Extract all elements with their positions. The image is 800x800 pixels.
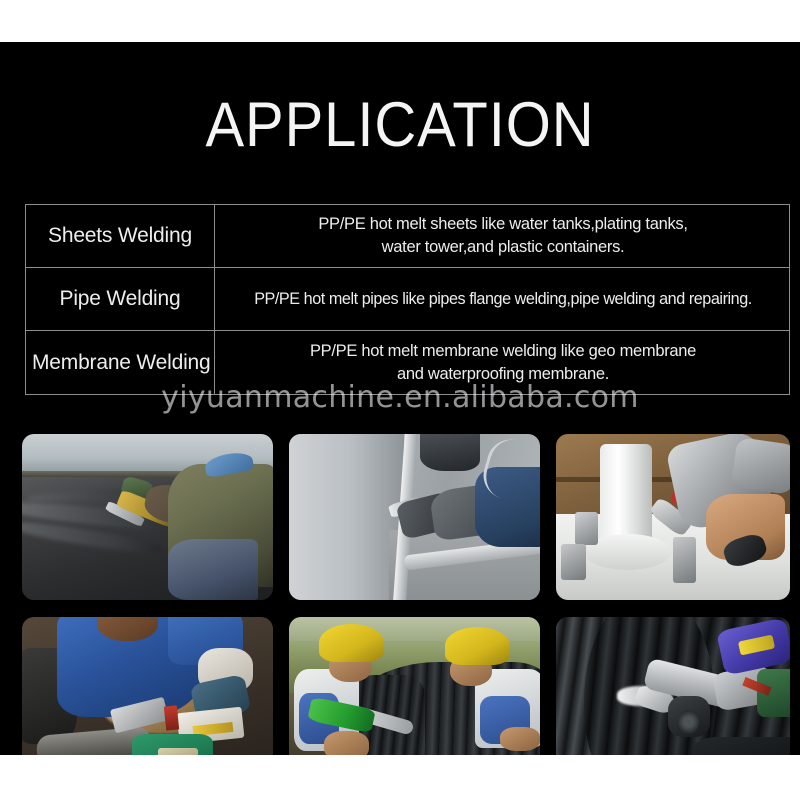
extrusion-welder-body — [731, 437, 790, 495]
photo-scene — [289, 617, 540, 755]
gallery-photo-sheet-welding — [289, 434, 540, 600]
description-line: and waterproofing membrane. — [225, 363, 781, 386]
table-cell-description: PP/PE hot melt membrane welding like geo… — [215, 331, 790, 395]
description-line: water tower,and plastic containers. — [225, 236, 781, 259]
table-cell-description: PP/PE hot melt pipes like pipes flange w… — [215, 268, 790, 331]
clamp — [575, 512, 598, 545]
description-line: PP/PE hot melt pipes like pipes flange w… — [225, 288, 781, 311]
gallery-photo-pipe-repair-welding — [22, 617, 273, 755]
photo-scene — [289, 434, 540, 600]
table-cell-category: Pipe Welding — [26, 268, 215, 331]
shadow-layer — [692, 737, 790, 755]
gallery-photo-pipe-seam-closeup — [556, 617, 790, 755]
tank-wall — [289, 434, 404, 600]
worker-trousers — [168, 539, 258, 600]
welder-label — [158, 748, 198, 755]
table-cell-category: Membrane Welding — [26, 331, 215, 395]
gallery-photo-geomembrane-welding — [22, 434, 273, 600]
application-table: Sheets Welding PP/PE hot melt sheets lik… — [25, 204, 790, 395]
table-row: Sheets Welding PP/PE hot melt sheets lik… — [26, 205, 790, 268]
gallery-photo-corrugated-pipe-welding — [289, 617, 540, 755]
table-row: Pipe Welding PP/PE hot melt pipes like p… — [26, 268, 790, 331]
gallery-photo-pipe-flange-welding — [556, 434, 790, 600]
description-line: PP/PE hot melt membrane welding like geo… — [225, 340, 781, 363]
photo-scene — [22, 434, 273, 600]
worker-hand — [324, 731, 369, 755]
black-panel: APPLICATION Sheets Welding PP/PE hot mel… — [0, 42, 800, 755]
photo-gallery — [22, 434, 790, 755]
worker-hand — [500, 727, 540, 751]
yellow-hard-hat — [445, 627, 510, 665]
table-cell-category: Sheets Welding — [26, 205, 215, 268]
clamp — [673, 537, 696, 583]
photo-scene — [556, 434, 790, 600]
shadow-layer — [420, 434, 480, 471]
red-part — [164, 706, 179, 731]
yellow-hard-hat — [319, 624, 384, 662]
photo-scene — [556, 617, 790, 755]
page-title: APPLICATION — [32, 90, 768, 160]
application-slide: APPLICATION Sheets Welding PP/PE hot mel… — [0, 0, 800, 800]
description-line: PP/PE hot melt sheets like water tanks,p… — [225, 213, 781, 236]
clamp — [561, 544, 587, 581]
table-cell-description: PP/PE hot melt sheets like water tanks,p… — [215, 205, 790, 268]
photo-scene — [22, 617, 273, 755]
extruder-opening — [678, 710, 699, 734]
table-row: Membrane Welding PP/PE hot melt membrane… — [26, 331, 790, 395]
